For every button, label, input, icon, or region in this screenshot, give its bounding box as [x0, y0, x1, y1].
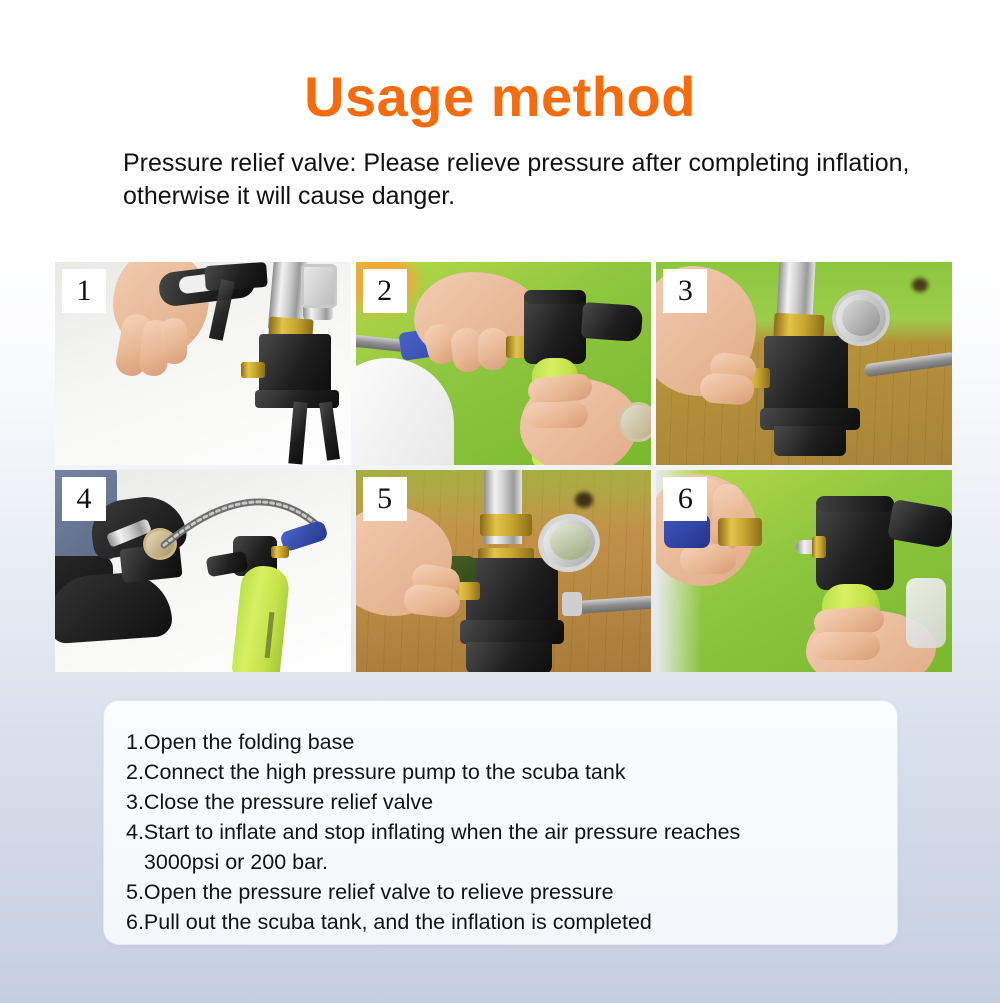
- usage-photo-6: 6: [656, 470, 952, 673]
- panel-badge: 3: [663, 269, 707, 313]
- page-subtitle: Pressure relief valve: Please relieve pr…: [85, 147, 915, 213]
- instruction-step: 1.Open the folding base: [126, 728, 897, 758]
- usage-photo-2: 2: [356, 262, 652, 465]
- instructions-card: 1.Open the folding base 2.Connect the hi…: [103, 700, 898, 945]
- instruction-step: 2.Connect the high pressure pump to the …: [126, 758, 897, 788]
- panel-badge: 6: [663, 477, 707, 521]
- instruction-step: 4.Start to inflate and stop inflating wh…: [126, 818, 897, 878]
- page-title: Usage method: [0, 0, 1000, 127]
- panel-badge: 4: [62, 477, 106, 521]
- usage-photo-grid: 1: [55, 262, 952, 672]
- panel-badge: 5: [363, 477, 407, 521]
- instruction-step: 5.Open the pressure relief valve to reli…: [126, 878, 897, 908]
- usage-photo-5: 5: [356, 470, 652, 673]
- panel-badge: 1: [62, 269, 106, 313]
- instruction-step: 3.Close the pressure relief valve: [126, 788, 897, 818]
- usage-photo-4: 4: [55, 470, 351, 673]
- usage-photo-3: 3: [656, 262, 952, 465]
- panel-badge: 2: [363, 269, 407, 313]
- usage-photo-1: 1: [55, 262, 351, 465]
- instruction-step: 6.Pull out the scuba tank, and the infla…: [126, 908, 897, 938]
